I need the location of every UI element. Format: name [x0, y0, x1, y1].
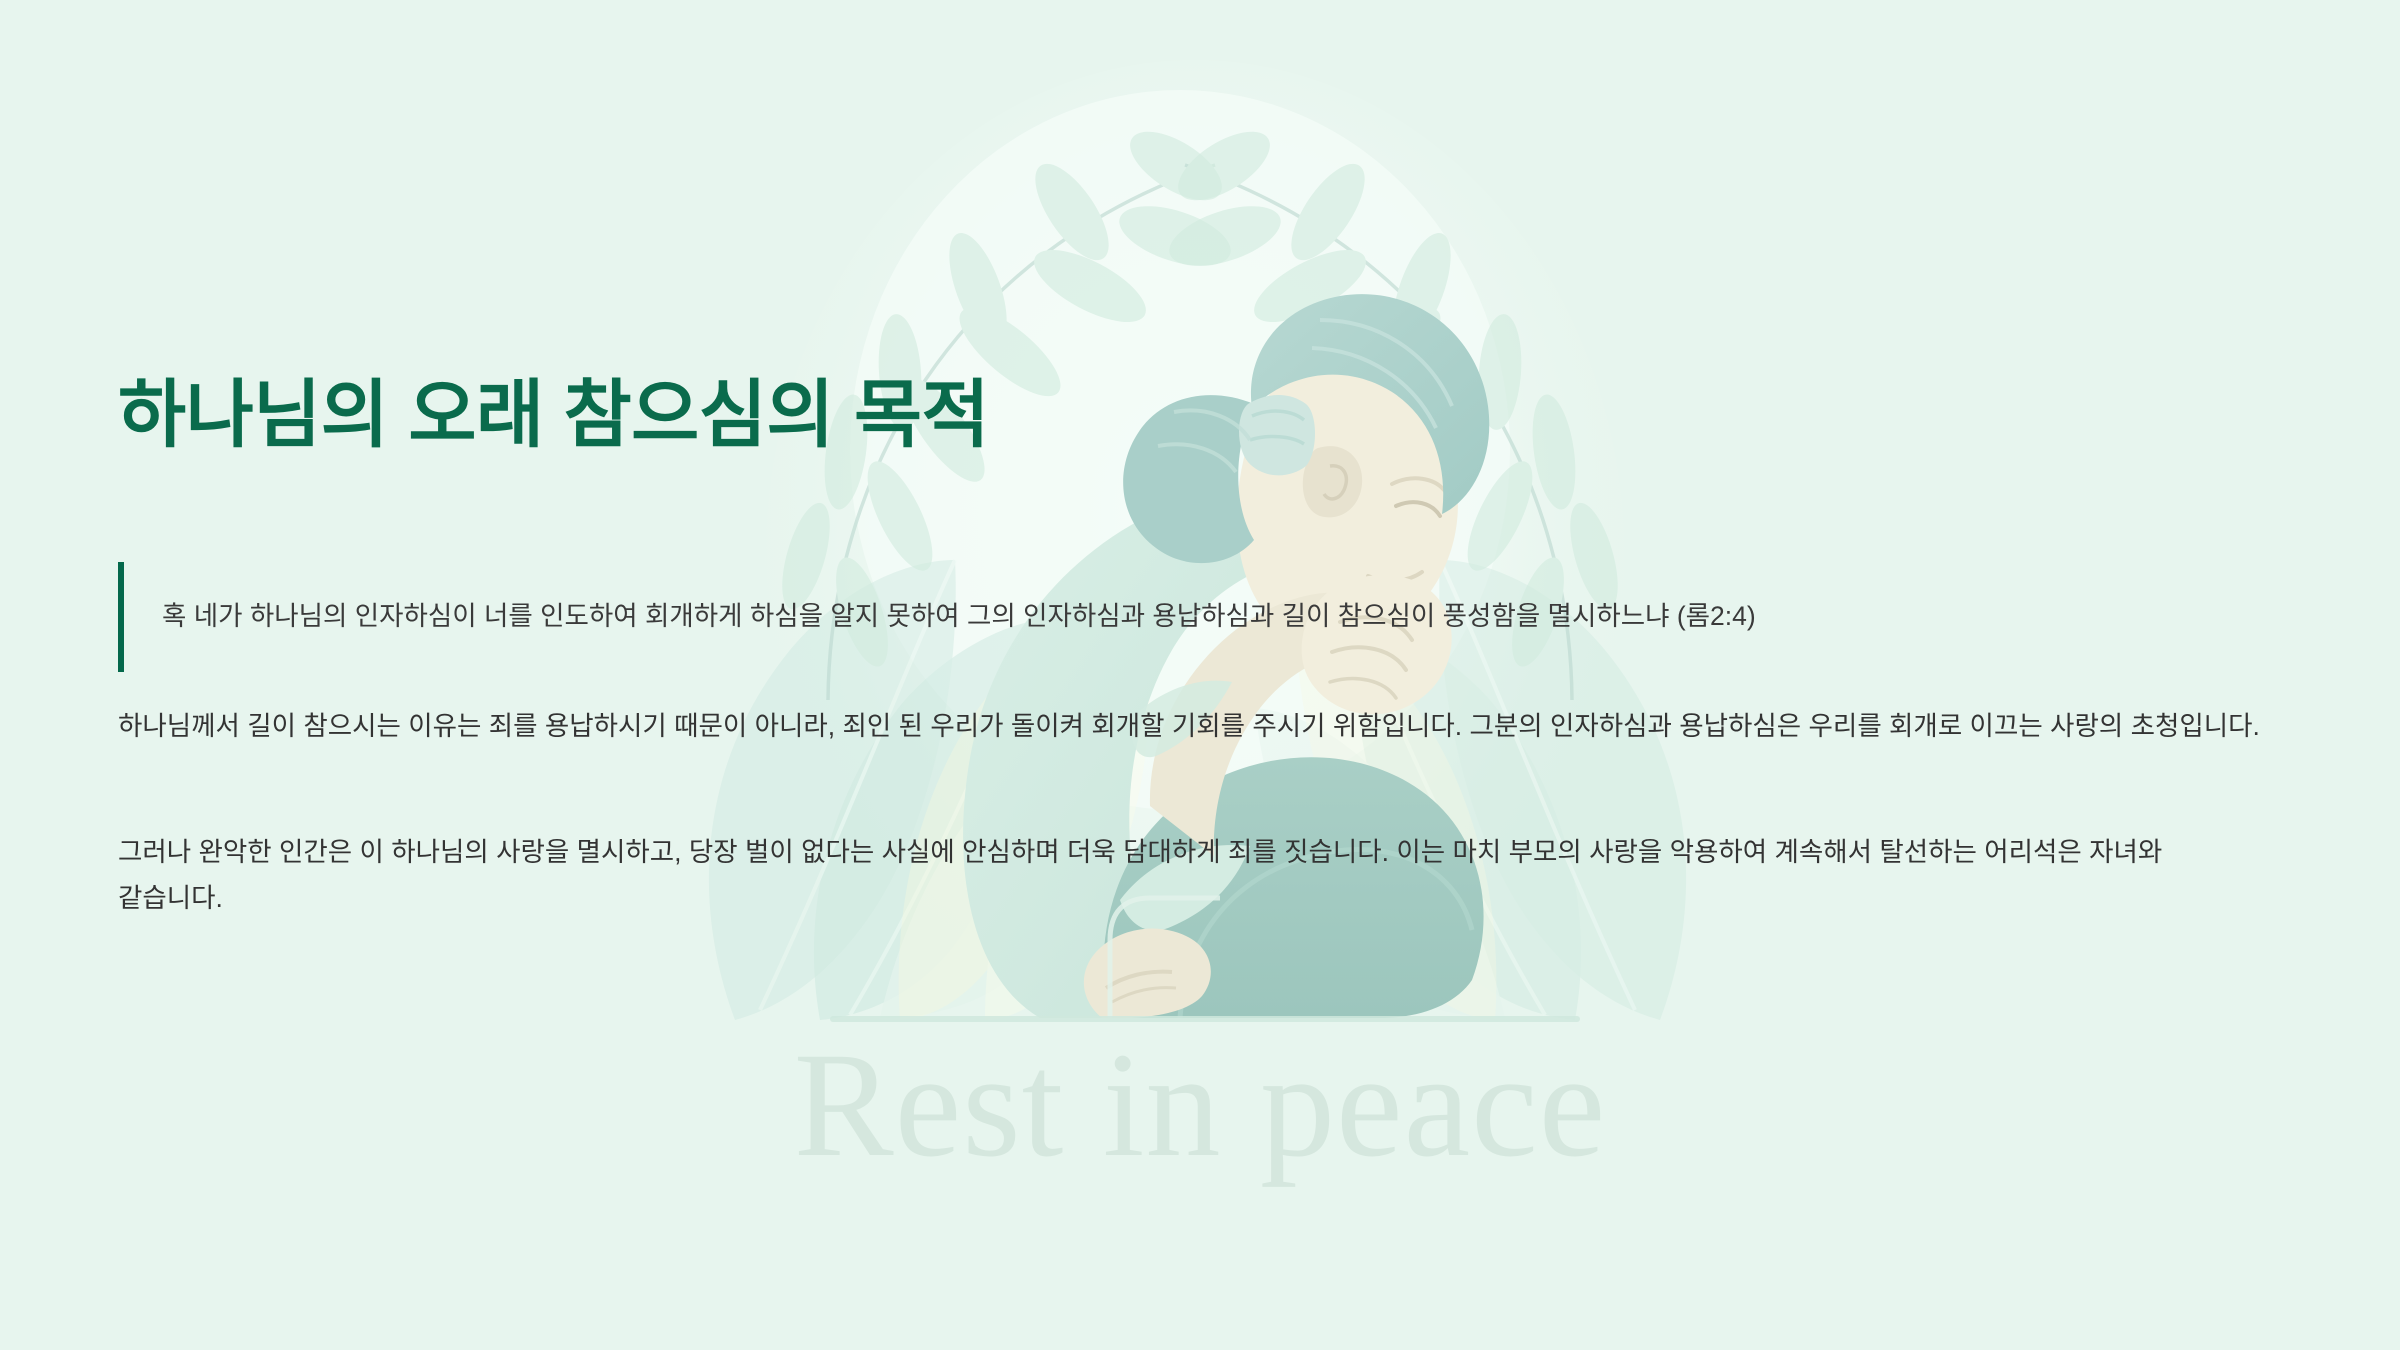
content-column: 하나님의 오래 참으심의 목적 혹 네가 하나님의 인자하심이 너를 인도하여 …	[118, 0, 2288, 1350]
body-paragraph-2: 그러나 완악한 인간은 이 하나님의 사랑을 멸시하고, 당장 벌이 없다는 사…	[118, 830, 2273, 921]
scripture-blockquote: 혹 네가 하나님의 인자하심이 너를 인도하여 회개하게 하심을 알지 못하여 …	[118, 562, 2228, 672]
page-title: 하나님의 오래 참으심의 목적	[118, 378, 989, 452]
body-paragraph-1: 하나님께서 길이 참으시는 이유는 죄를 용납하시기 때문이 아니라, 죄인 된…	[118, 704, 2273, 750]
scripture-quote-text: 혹 네가 하나님의 인자하심이 너를 인도하여 회개하게 하심을 알지 못하여 …	[124, 596, 1756, 637]
slide-canvas: Rest in peace 하나님의 오래 참으심의 목적 혹 네가 하나님의 …	[0, 0, 2400, 1350]
